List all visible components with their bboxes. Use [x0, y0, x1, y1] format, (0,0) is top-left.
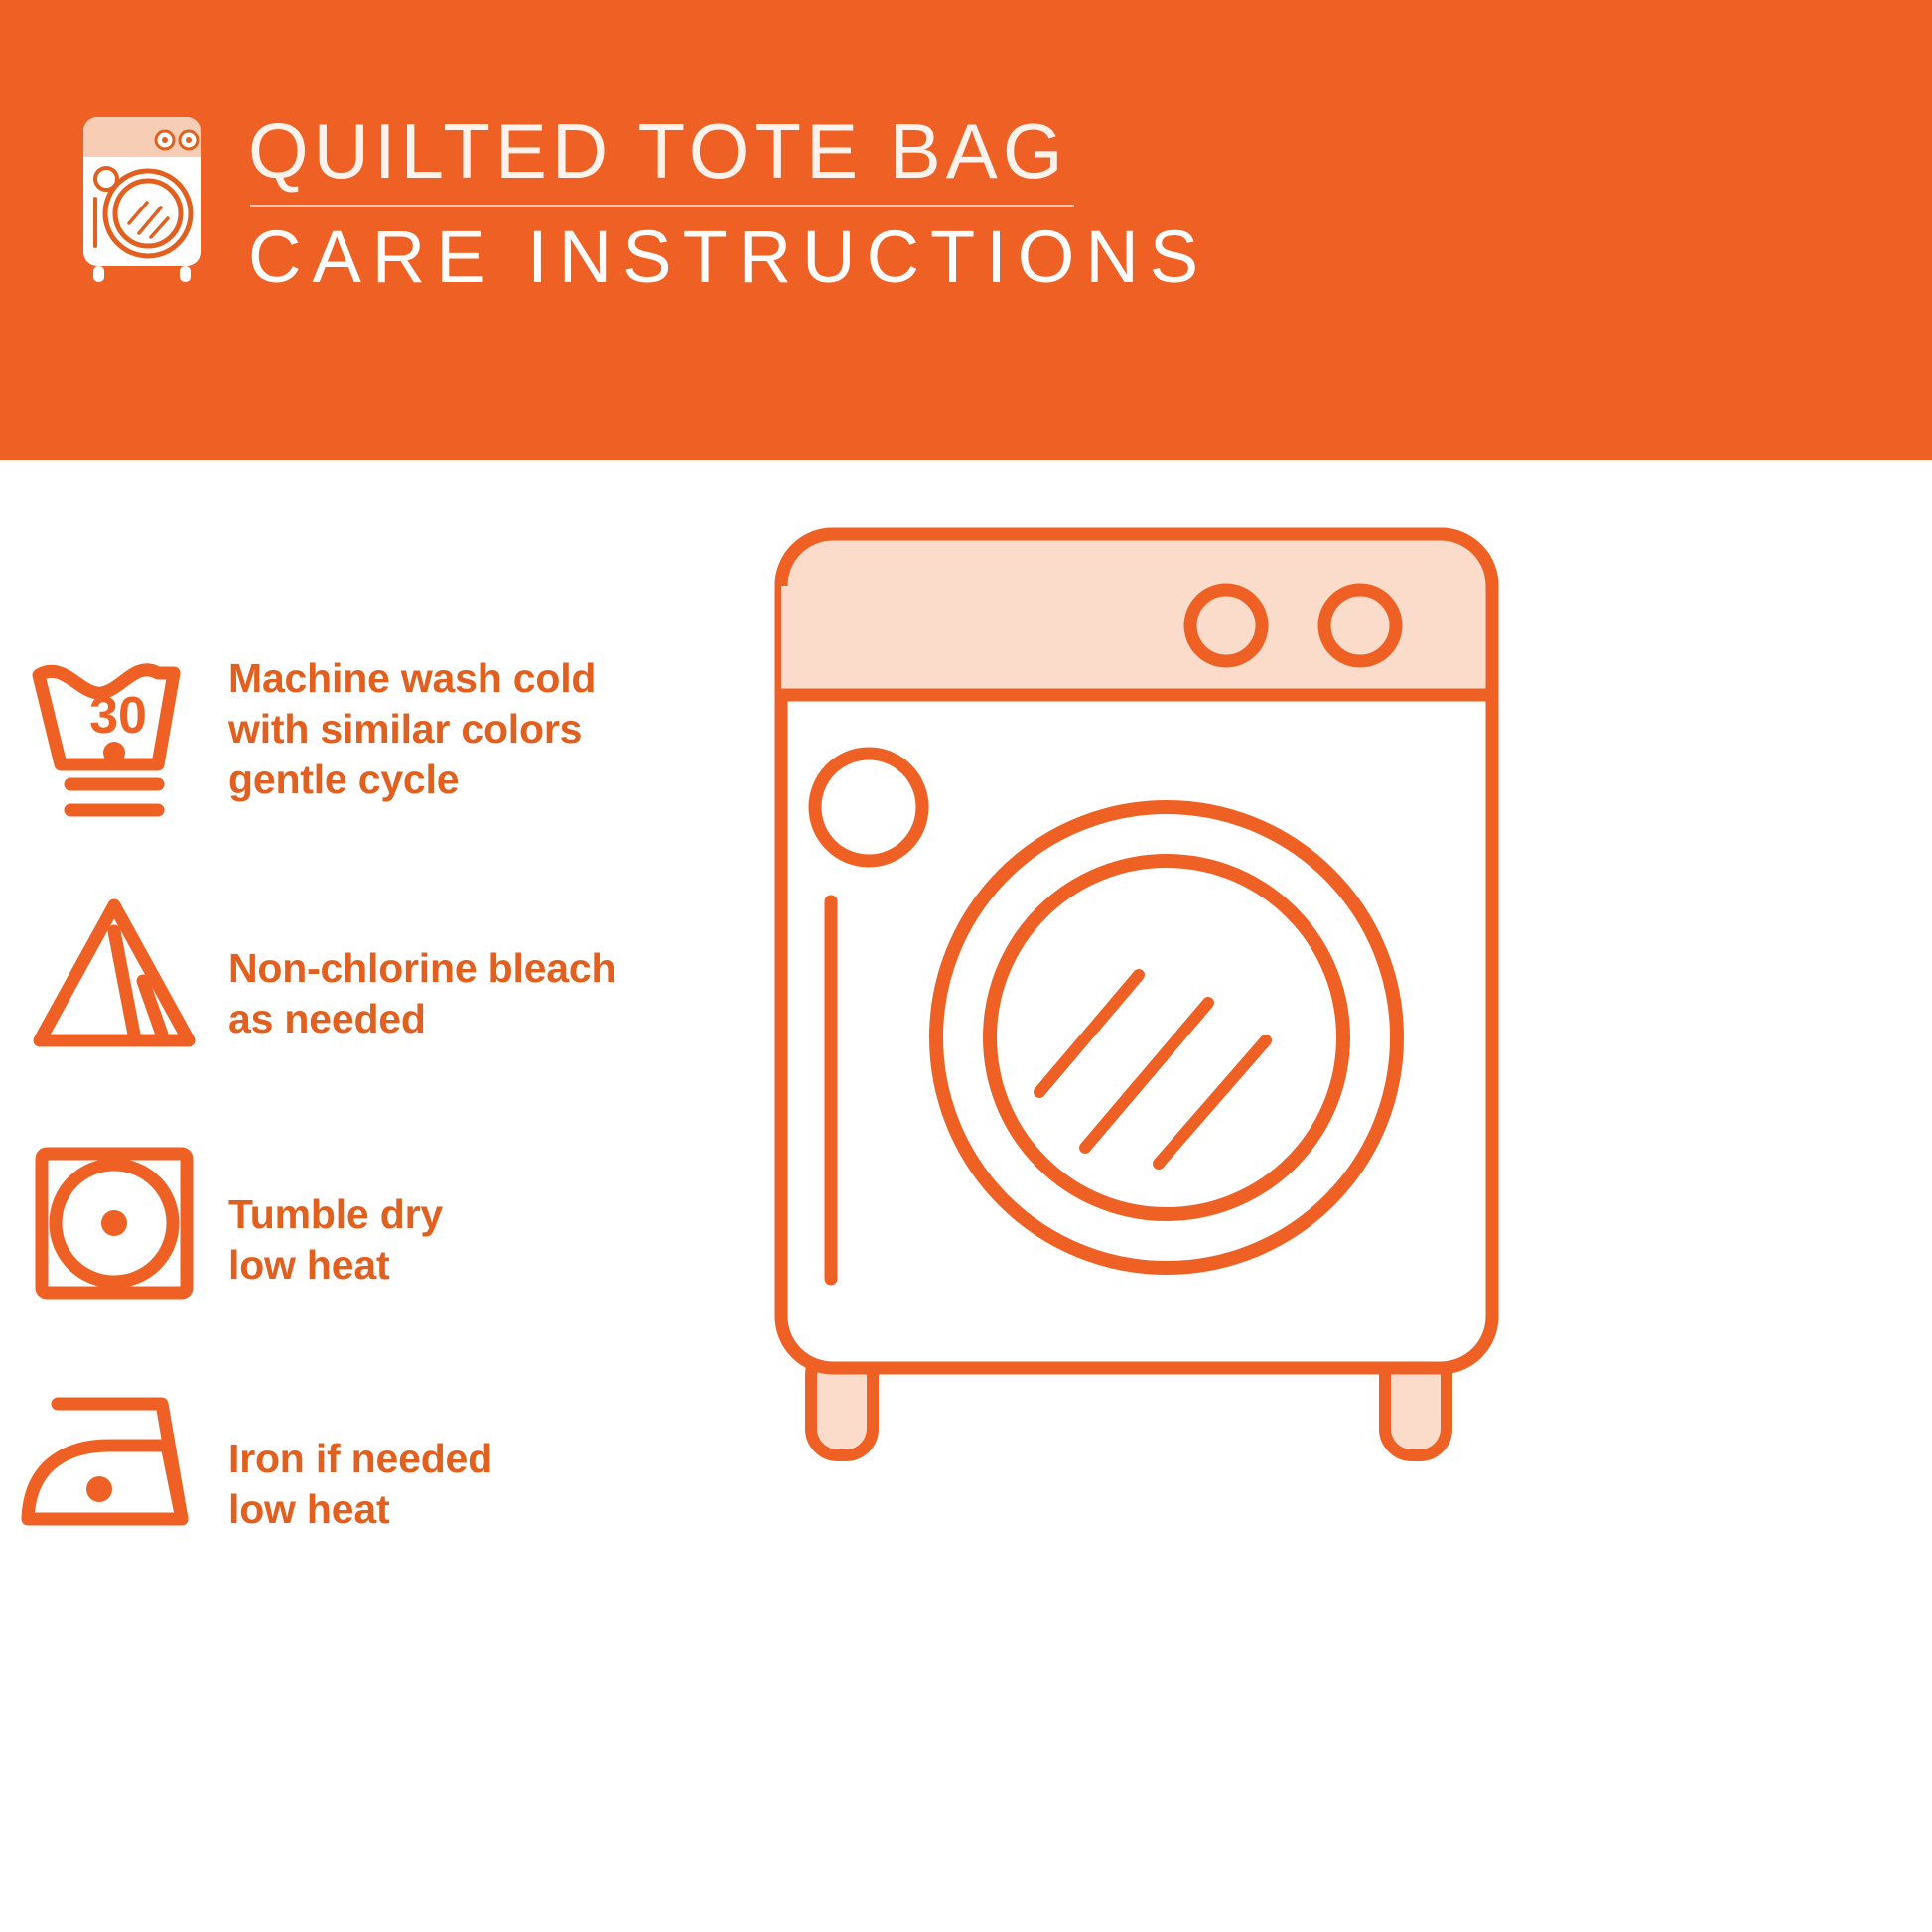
- header-title-group: QUILTED TOTE BAG CARE INSTRUCTIONS: [248, 107, 1209, 296]
- care-line: Iron if needed: [228, 1434, 492, 1484]
- wash-temperature-label: 30: [89, 687, 147, 745]
- care-text-bleach: Non-chlorine bleach as needed: [228, 882, 616, 1044]
- care-icon-slot: [0, 1374, 228, 1537]
- washing-machine-icon: [69, 107, 218, 284]
- care-icon-slot: [0, 882, 228, 1054]
- gentle-dot-icon: [103, 742, 125, 763]
- wash-tub-30-gentle-icon: 30: [23, 649, 207, 828]
- header-content: QUILTED TOTE BAG CARE INSTRUCTIONS: [69, 107, 1209, 296]
- care-text-iron: Iron if needed low heat: [228, 1374, 492, 1535]
- care-line: Machine wash cold: [228, 653, 596, 704]
- title-divider: [250, 205, 1074, 207]
- low-heat-dot-icon: [86, 1476, 112, 1502]
- care-line: low heat: [228, 1484, 492, 1535]
- care-text-tumble-dry: Tumble dry low heat: [228, 1128, 443, 1291]
- low-heat-dot-icon: [101, 1210, 127, 1236]
- non-chlorine-bleach-triangle-icon: [28, 896, 202, 1054]
- care-line: with similar colors: [228, 704, 596, 755]
- care-line: low heat: [228, 1240, 443, 1291]
- iron-low-heat-icon: [20, 1388, 208, 1537]
- care-line: gentle cycle: [228, 755, 596, 805]
- header-banner: QUILTED TOTE BAG CARE INSTRUCTIONS: [0, 0, 1932, 460]
- care-line: as needed: [228, 994, 616, 1044]
- front-load-washing-machine-illustration: [769, 516, 1504, 1469]
- care-icon-slot: [0, 1128, 228, 1306]
- care-icon-slot: 30: [0, 635, 228, 828]
- detergent-port[interactable]: [815, 754, 922, 861]
- page-title: QUILTED TOTE BAG: [248, 111, 1209, 191]
- care-text-machine-wash: Machine wash cold with similar colors ge…: [228, 635, 596, 805]
- care-line: Tumble dry: [228, 1189, 443, 1240]
- control-knob-right[interactable]: [1324, 590, 1396, 661]
- control-knob-left[interactable]: [1190, 590, 1262, 661]
- care-line: Non-chlorine bleach: [228, 943, 616, 994]
- tumble-dry-low-heat-icon: [30, 1142, 199, 1306]
- page-subtitle: CARE INSTRUCTIONS: [248, 218, 1209, 296]
